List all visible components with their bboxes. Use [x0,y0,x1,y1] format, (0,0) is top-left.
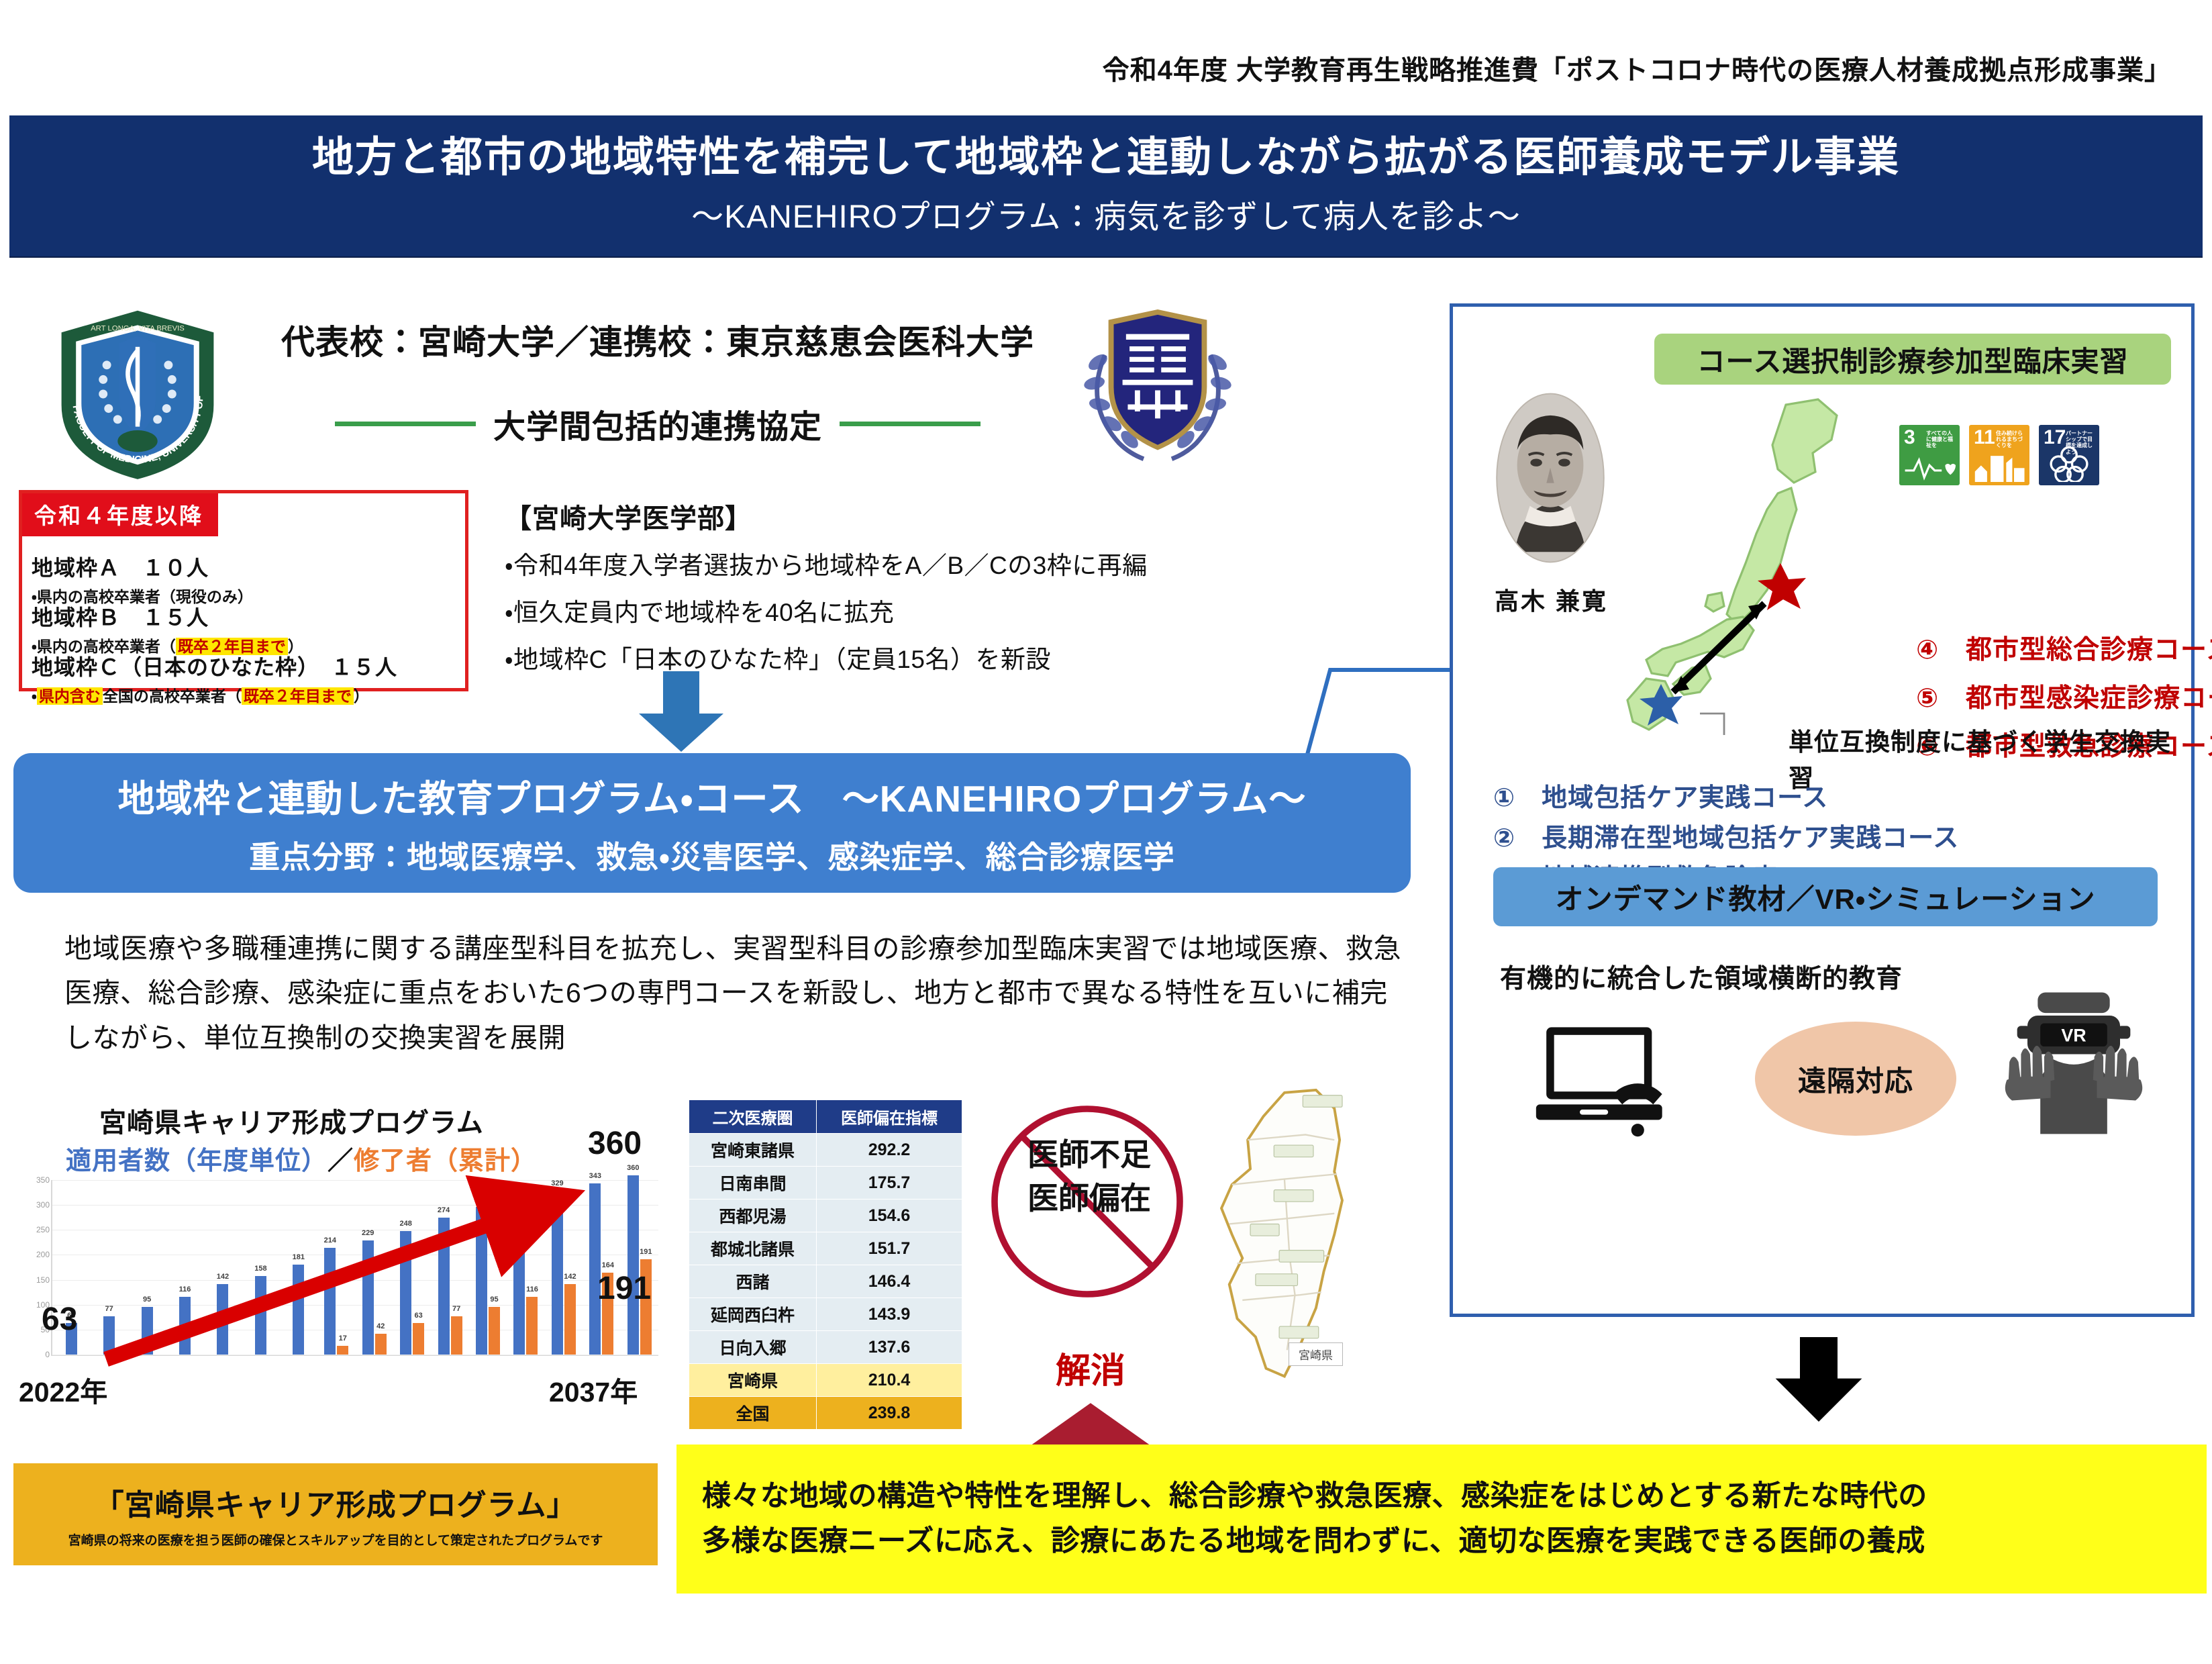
department-heading: 【宮崎大学医学部】 [505,497,752,536]
quota-a-head: 地域枠Ａ １０人 [32,551,253,582]
chart-bar-label: 142 [217,1273,229,1281]
miyazaki-university-logo: ART LONGA, VITA BREVIS FACULTY OF MEDICI… [47,303,228,485]
blue-down-arrow-icon [631,671,732,752]
table-cell-value: 137.6 [817,1331,962,1364]
resolve-label: 解消 [1007,1342,1174,1393]
table-header-row: 二次医療圏 医師偏在指標 [689,1100,962,1134]
chart-bar-label: 116 [526,1285,538,1293]
svg-text:ART LONGA, VITA BREVIS: ART LONGA, VITA BREVIS [91,325,185,333]
quota-row-b: 地域枠Ｂ １５人 ・県内の高校卒業者（既卒２年目まで） [32,601,303,656]
chart-bar-group: 343164 [583,1180,620,1355]
agreement-label: 大学間包括的連携協定 [493,400,822,447]
right-panel: コース選択制診療参加型臨床実習 高木 兼寛 [1450,303,2195,1317]
chart-xlabel-end: 2037年 [549,1369,638,1410]
chart-bar-label: 63 [415,1312,423,1320]
chart-ytick: 300 [24,1200,50,1210]
chart-bar: 274 [438,1218,450,1355]
chart-bar-group: 116 [166,1180,203,1355]
chart-bar-label: 229 [362,1229,374,1237]
chart-bar-label: 142 [564,1273,576,1281]
table-cell-area: 全国 [689,1397,817,1430]
chart-bar-group: 142 [204,1180,242,1355]
chart-bar-label: 360 [627,1164,639,1172]
chart-callout-first: 63 [42,1301,77,1338]
table-row: 都城北諸県151.7 [689,1232,962,1265]
table-cell-value: 239.8 [817,1397,962,1430]
japan-map [1614,394,1882,756]
takagi-portrait [1487,387,1614,569]
chart-bar-label: 274 [438,1206,450,1214]
sdg-11-caption: 住み続けられるまちづくりを [1996,430,2027,449]
doctor-shortage-text: 医師不足 医師偏在 [1005,1133,1173,1221]
chart-bar-group: 181 [280,1180,317,1355]
sdg-icon-11: 11 住み続けられるまちづくりを [1969,425,2029,485]
legend-separator: ／ [328,1147,354,1175]
sdg-icon-3: 3 すべての人に健康と福祉を [1899,425,1960,485]
exchange-practice-label: 単位互換制度に基づく学生交換実習 [1789,722,2191,794]
black-down-arrow-icon [1772,1336,1866,1423]
table-cell-area: 延岡西臼杵 [689,1298,817,1331]
table-row: 宮崎県210.4 [689,1364,962,1397]
chart-legend: 適用者数（年度単位）／修了者（累計） [66,1140,537,1177]
chart-bar-label: 343 [589,1172,601,1180]
legend-blue: 適用者数（年度単位） [66,1147,328,1175]
connector-line [1302,577,1456,772]
table-row: 西都児湯154.6 [689,1200,962,1232]
chart-bar-group: 22942 [356,1180,393,1355]
summary-box: 様々な地域の構造や特性を理解し、総合診療や救急医療、感染症をはじめとする新たな時… [676,1445,2207,1594]
takagi-name-label: 高木 兼寛 [1482,582,1620,617]
jikei-university-logo [1070,295,1246,471]
remote-support-label: 遠隔対応 [1755,1022,1956,1136]
quota-c-sub: ・県内含む全国の高校卒業者（既卒２年目まで） [32,683,397,706]
chart-bar-group: 95 [128,1180,166,1355]
chart-gridline [52,1355,658,1355]
miyazaki-map-label: 宮崎県 [1289,1342,1343,1366]
chart-ytick: 0 [24,1350,50,1359]
chart-bar-group: 158 [242,1180,279,1355]
page-title: 地方と都市の地域特性を補完して地域枠と連動しながら拡がる医師養成モデル事業 [312,135,1900,181]
sdg-icon-17: 17 パートナーシップで目標を達成しよう [2039,425,2099,485]
quota-row-a: 地域枠Ａ １０人 ・県内の高校卒業者（現役のみ） [32,551,253,607]
table-cell-value: 154.6 [817,1200,962,1232]
chart-bar-label: 296 [475,1195,487,1204]
legend-orange: 修了者（累計） [354,1147,537,1175]
quota-c-head: 地域枠Ｃ（日本のひなた枠） １５人 [32,650,397,681]
chart-callout-last-orange: 191 [597,1270,651,1307]
chart-bar: 42 [375,1334,387,1355]
chart-title: 宮崎県キャリア形成プログラム [99,1101,484,1140]
chart-bar-label: 315 [513,1186,525,1194]
doctor-maldistribution-line2: 医師偏在 [1005,1177,1173,1220]
table-row: 延岡西臼杵143.9 [689,1298,962,1331]
page-subtitle: ～KANEHIROプログラム：病気を診ずして病人を診よ～ [691,190,1521,237]
chart-bar-label: 95 [143,1295,151,1304]
table-header-index: 医師偏在指標 [817,1100,962,1134]
chart-bar-label: 214 [324,1236,336,1244]
chart-bar-label: 77 [105,1305,113,1313]
career-program-note: 宮崎県の将来の医療を担う医師の確保とスキルアップを目的として策定されたプログラム… [68,1530,603,1549]
chart-bar: 360 [627,1175,639,1355]
local-course-1: ① 地域包括ケア実践コース [1493,777,1828,814]
chart-bar: 63 [413,1323,424,1355]
partner-institutions-line: 代表校：宮崎大学／連携校：東京慈恵会医科大学 [248,315,1067,364]
chart-bar: 142 [564,1284,576,1355]
chart-bar: 158 [255,1276,266,1355]
table-row: 日南串間175.7 [689,1167,962,1200]
chart-bar: 229 [362,1240,374,1355]
chart-bar-label: 42 [376,1322,385,1330]
chart-bar-label: 17 [339,1334,347,1342]
chart-bar-label: 95 [490,1295,498,1304]
vr-label-text: VR [2061,1025,2086,1045]
chart-plot-area: 0501001502002503003506377951161421581812… [51,1180,658,1356]
department-bullet-3: ・地域枠C「日本のひなた枠」（定員15名）を新設 [505,639,1051,675]
chart-bar-label: 164 [602,1261,614,1269]
chart-bar-group: 315116 [507,1180,544,1355]
ondemand-vr-banner: オンデマンド教材／VR・シミュレーション [1493,867,2158,926]
summary-line-1: 様々な地域の構造や特性を理解し、総合診療や救急医療、感染症をはじめとする新たな時… [702,1474,2181,1519]
quota-c-highlight-1: 県内含む [37,687,103,705]
quota-c-highlight-2: 既卒２年目まで [242,687,354,705]
green-rule-right [840,422,981,426]
urban-course-4: ④ 都市型総合診療コース [1916,629,2212,667]
chart-bar-label: 191 [640,1248,652,1256]
chart-bar: 95 [489,1307,500,1355]
funding-program-line: 令和4年度 大学教育再生戦略推進費「ポストコロナ時代の医療人材養成拠点形成事業」 [0,48,2172,87]
chart-bar: 296 [476,1207,487,1355]
chart-bar-group: 77 [90,1180,128,1355]
chart-bar: 116 [526,1297,538,1355]
chart-bar-label: 181 [293,1253,305,1261]
table-cell-area: 都城北諸県 [689,1232,817,1265]
local-course-2: ② 長期滞在型地域包括ケア実践コース [1493,817,1959,854]
quota-row-c: 地域枠Ｃ（日本のひなた枠） １５人 ・県内含む全国の高校卒業者（既卒２年目まで） [32,650,397,706]
chart-ytick: 200 [24,1250,50,1259]
program-priority-fields: 重点分野：地域医療学、救急・災害医学、感染症学、総合診療医学 [249,833,1175,877]
chart-bar-group: 21417 [317,1180,355,1355]
department-bullet-1: ・令和4年度入学者選抜から地域枠をA／B／Cの3枠に再編 [505,545,1148,581]
chart-bar: 181 [293,1265,304,1355]
table-row: 宮崎東諸県292.2 [689,1134,962,1167]
chart-bar: 77 [103,1316,115,1355]
summary-line-2: 多様な医療ニーズに応え、診療にあたる地域を問わずに、適切な医療を実践できる医師の… [702,1519,2181,1564]
table-row: 西諸146.4 [689,1265,962,1298]
quota-c-sub-pre: ・ [32,687,37,705]
chart-ytick: 350 [24,1175,50,1185]
chart-bar: 248 [400,1231,411,1355]
table-cell-area: 日南串間 [689,1167,817,1200]
chart-bar-label: 77 [452,1305,460,1313]
quota-badge: 令和４年度以降 [22,493,218,536]
chart-bar: 343 [589,1183,601,1355]
chart-bar-label: 158 [254,1265,266,1273]
agreement-row: 大学間包括的連携協定 [221,401,1094,446]
quota-c-sub-mid: 全国の高校卒業者（ [103,687,242,705]
table-cell-value: 143.9 [817,1298,962,1331]
chart-ytick: 250 [24,1225,50,1234]
chart-bar-group: 360191 [621,1180,658,1355]
career-program-chart: 宮崎県キャリア形成プログラム 適用者数（年度単位）／修了者（累計） 050100… [19,1101,683,1410]
quota-c-sub-post: ） [354,687,369,705]
table-cell-area: 西都児湯 [689,1200,817,1232]
sdg-3-caption: すべての人に健康と福祉を [1926,430,1957,449]
doctor-distribution-table: 二次医療圏 医師偏在指標 宮崎東諸県292.2日南串間175.7西都児湯154.… [689,1099,962,1430]
program-banner: 地域枠と連動した教育プログラム・コース ～KANEHIROプログラム～ 重点分野… [13,753,1411,893]
chart-bar: 329 [552,1191,563,1355]
urban-course-5: ⑤ 都市型感染症診療コース [1916,677,2212,715]
chart-bar: 17 [337,1346,348,1355]
laptop-wifi-icon [1534,1018,1688,1139]
course-selection-banner: コース選択制診療参加型臨床実習 [1654,334,2171,385]
table-header-area: 二次医療圏 [689,1100,817,1134]
doctor-shortage-line1: 医師不足 [1005,1133,1173,1177]
table-row: 日向入郷137.6 [689,1331,962,1364]
chart-bar-group: 329142 [545,1180,583,1355]
vr-headset-icon: VR [1997,985,2151,1139]
sdg-icon-row: 3 すべての人に健康と福祉を 11 住み続けられるまちづくりを 17 パートナー… [1899,425,2099,485]
department-bullet-2: ・恒久定員内で地域枠を40名に拡充 [505,592,894,628]
table-row: 全国239.8 [689,1397,962,1430]
chart-bar: 315 [513,1197,525,1355]
career-program-caption-box: 「宮崎県キャリア形成プログラム」 宮崎県の将来の医療を担う医師の確保とスキルアッ… [13,1463,658,1565]
quota-box: 令和４年度以降 地域枠Ａ １０人 ・県内の高校卒業者（現役のみ） 地域枠Ｂ １５… [19,490,468,691]
chart-bar-label: 329 [551,1179,563,1187]
table-cell-value: 146.4 [817,1265,962,1298]
chart-ytick: 150 [24,1275,50,1285]
chart-bar-group: 27477 [431,1180,468,1355]
chart-bar: 142 [217,1284,228,1355]
career-program-title: 「宮崎県キャリア形成プログラム」 [95,1481,577,1524]
chart-bar-group: 24863 [393,1180,431,1355]
table-cell-value: 151.7 [817,1232,962,1265]
green-rule-left [335,422,476,426]
table-cell-area: 日向入郷 [689,1331,817,1364]
program-title: 地域枠と連動した教育プログラム・コース ～KANEHIROプログラム～ [118,769,1307,822]
chart-bar-group: 29695 [469,1180,507,1355]
sdg-11-number: 11 [1974,428,1995,448]
table-cell-value: 175.7 [817,1167,962,1200]
chart-callout-last-blue: 360 [588,1125,642,1162]
chart-xlabel-start: 2022年 [19,1369,107,1410]
table-cell-area: 宮崎東諸県 [689,1134,817,1167]
chart-bar: 116 [179,1297,191,1355]
chart-bar-label: 116 [179,1285,191,1293]
chart-bar: 95 [142,1307,153,1355]
body-paragraph: 地域医療や多職種連携に関する講座型科目を拡充し、実習型科目の診療参加型臨床実習で… [64,926,1413,1060]
chart-bar-label: 248 [399,1220,411,1228]
table-cell-value: 292.2 [817,1134,962,1167]
quota-b-head: 地域枠Ｂ １５人 [32,601,303,632]
table-cell-area: 西諸 [689,1265,817,1298]
chart-bar: 214 [324,1248,336,1355]
title-banner: 地方と都市の地域特性を補完して地域枠と連動しながら拡がる医師養成モデル事業 ～K… [9,115,2203,256]
integrated-education-label: 有機的に統合した領域横断的教育 [1500,958,1903,995]
sdg-3-number: 3 [1904,428,1915,448]
chart-bar: 77 [451,1316,462,1355]
table-cell-value: 210.4 [817,1364,962,1397]
table-cell-area: 宮崎県 [689,1364,817,1397]
